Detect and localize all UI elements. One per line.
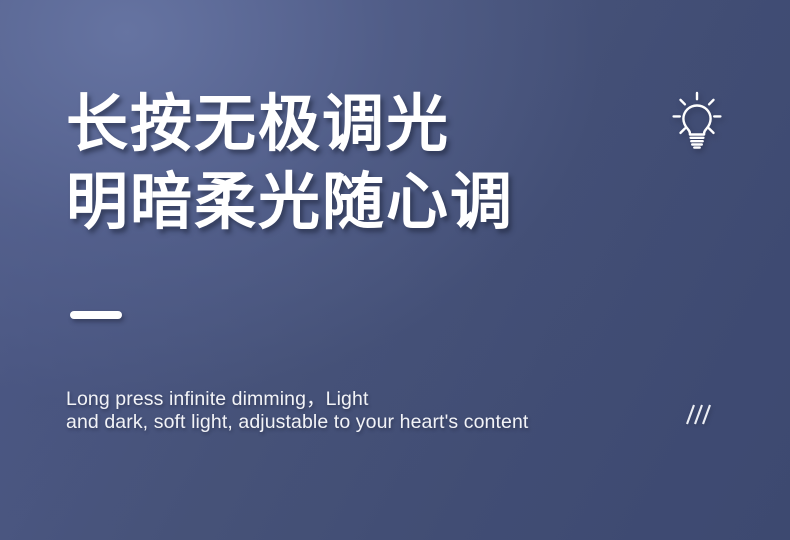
light-bulb-icon: [663, 88, 731, 156]
subtitle-line-1: Long press infinite dimming，Light: [66, 388, 528, 411]
promo-banner: 长按无极调光 明暗柔光随心调 Long press infinite dimmi…: [0, 0, 790, 540]
slashes-decoration: [676, 400, 720, 430]
subtitle-line-2: and dark, soft light, adjustable to your…: [66, 411, 528, 434]
headline: 长按无极调光 明暗柔光随心调: [66, 86, 514, 242]
divider-bar: [70, 311, 122, 319]
subtitle: Long press infinite dimming，Light and da…: [66, 388, 528, 434]
headline-line-2: 明暗柔光随心调: [66, 164, 514, 242]
headline-line-1: 长按无极调光: [66, 86, 514, 164]
